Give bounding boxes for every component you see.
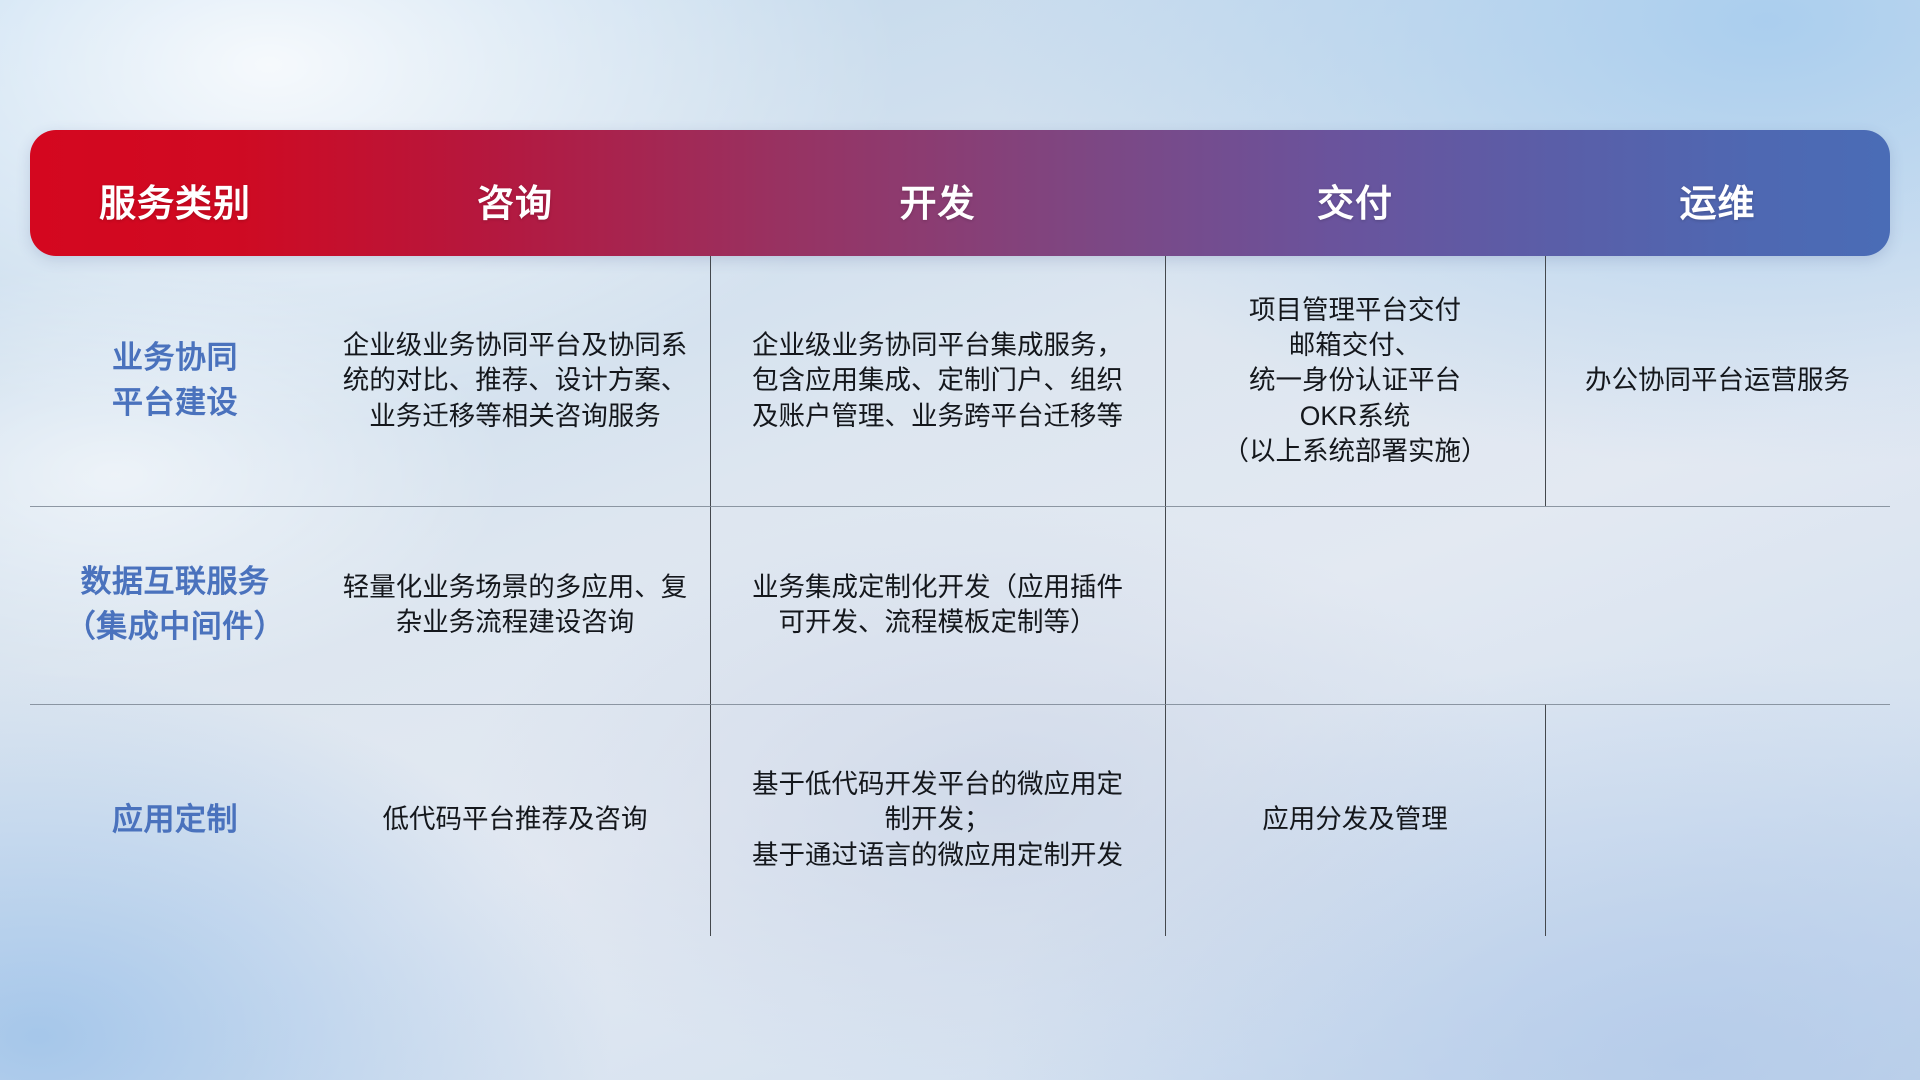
row-category-label: 数据互联服务 （集成中间件） [30,506,320,704]
cell-operations [1545,704,1890,936]
column-header-operations: 运维 [1545,185,1890,256]
table-body: 业务协同 平台建设 企业级业务协同平台及协同系 统的对比、推荐、设计方案、 业务… [30,256,1890,936]
table-row: 业务协同 平台建设 企业级业务协同平台及协同系 统的对比、推荐、设计方案、 业务… [30,256,1890,506]
cell-operations: 办公协同平台运营服务 [1545,256,1890,506]
table-row: 数据互联服务 （集成中间件） 轻量化业务场景的多应用、复 杂业务流程建设咨询 业… [30,506,1890,704]
column-header-service-category: 服务类别 [30,185,320,256]
cell-development: 业务集成定制化开发（应用插件 可开发、流程模板定制等） [710,506,1165,704]
cell-consulting: 企业级业务协同平台及协同系 统的对比、推荐、设计方案、 业务迁移等相关咨询服务 [320,256,710,506]
cell-consulting: 低代码平台推荐及咨询 [320,704,710,936]
cell-delivery: 应用分发及管理 [1165,704,1545,936]
cell-delivery [1165,506,1545,704]
cell-consulting: 轻量化业务场景的多应用、复 杂业务流程建设咨询 [320,506,710,704]
cell-delivery: 项目管理平台交付 邮箱交付、 统一身份认证平台 OKR系统 （以上系统部署实施） [1165,256,1545,506]
column-header-delivery: 交付 [1165,185,1545,256]
cell-operations [1545,506,1890,704]
cell-development: 企业级业务协同平台集成服务， 包含应用集成、定制门户、组织 及账户管理、业务跨平… [710,256,1165,506]
column-header-development: 开发 [710,185,1165,256]
row-category-label: 应用定制 [30,704,320,936]
row-category-label: 业务协同 平台建设 [30,256,320,506]
table-row: 应用定制 低代码平台推荐及咨询 基于低代码开发平台的微应用定 制开发； 基于通过… [30,704,1890,936]
service-matrix-table: 服务类别 咨询 开发 交付 运维 业务协同 平台建设 企业级业务协同平台及协同系… [30,130,1890,936]
cell-development: 基于低代码开发平台的微应用定 制开发； 基于通过语言的微应用定制开发 [710,704,1165,936]
column-header-consulting: 咨询 [320,185,710,256]
table-header-row: 服务类别 咨询 开发 交付 运维 [30,130,1890,256]
